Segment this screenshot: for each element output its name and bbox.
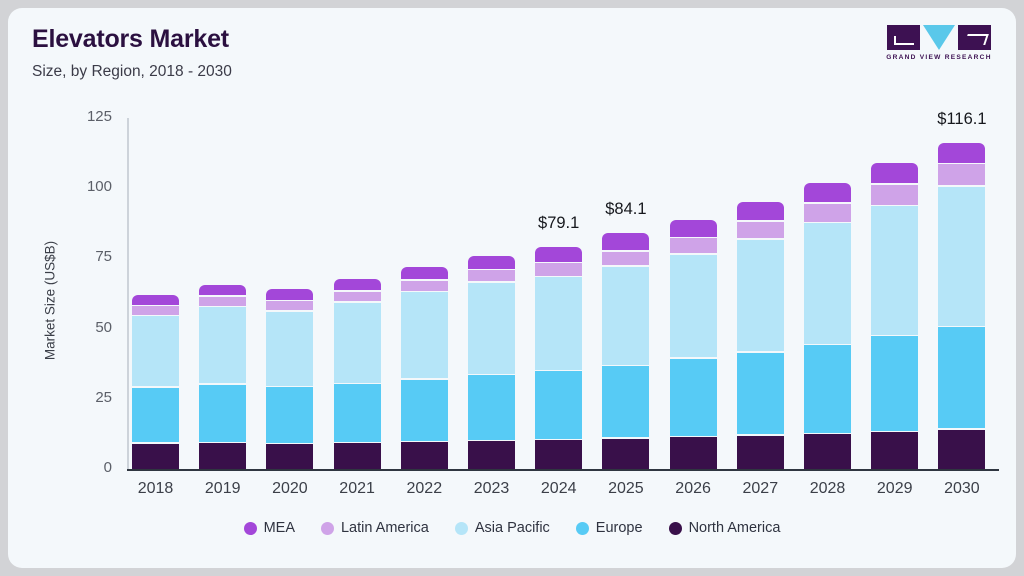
bar-segment-mea[interactable] [401, 267, 448, 279]
bar-segment-asia-pacific[interactable] [737, 240, 784, 351]
bar-segment-asia-pacific[interactable] [266, 312, 313, 386]
bar-segment-north-america[interactable] [871, 432, 918, 469]
bar-segment-europe[interactable] [670, 359, 717, 436]
bar-2021[interactable] [334, 279, 381, 469]
bar-segment-mea[interactable] [602, 233, 649, 250]
bar-2026[interactable] [670, 220, 717, 469]
bar-segment-latin-america[interactable] [737, 222, 784, 238]
legend-label: North America [689, 520, 781, 536]
y-axis-line [127, 118, 129, 470]
bar-segment-north-america[interactable] [401, 442, 448, 469]
bar-segment-europe[interactable] [401, 380, 448, 441]
bar-segment-mea[interactable] [938, 143, 985, 163]
bar-segment-latin-america[interactable] [132, 306, 179, 314]
y-axis-tick: 25 [66, 389, 112, 406]
legend-item-asia-pacific[interactable]: Asia Pacific [455, 520, 550, 536]
bar-segment-mea[interactable] [132, 295, 179, 305]
bar-segment-mea[interactable] [535, 247, 582, 262]
y-axis-tick: 0 [66, 459, 112, 476]
bar-2018[interactable] [132, 295, 179, 469]
bar-2028[interactable] [804, 183, 851, 469]
bar-segment-asia-pacific[interactable] [804, 223, 851, 344]
bar-segment-north-america[interactable] [199, 443, 246, 469]
value-label-2025: $84.1 [571, 200, 681, 219]
legend-item-north-america[interactable]: North America [669, 520, 781, 536]
bar-segment-asia-pacific[interactable] [871, 206, 918, 335]
legend-swatch-icon [669, 522, 682, 535]
value-label-2030: $116.1 [907, 110, 1016, 129]
bar-segment-asia-pacific[interactable] [199, 307, 246, 383]
legend-swatch-icon [455, 522, 468, 535]
y-axis-tick: 100 [66, 178, 112, 195]
bar-segment-latin-america[interactable] [401, 281, 448, 291]
bar-segment-latin-america[interactable] [670, 238, 717, 253]
bar-segment-latin-america[interactable] [199, 297, 246, 306]
bar-2020[interactable] [266, 289, 313, 469]
y-axis-label: Market Size (US$B) [43, 221, 58, 381]
bar-segment-latin-america[interactable] [804, 204, 851, 222]
chart-legend: MEALatin AmericaAsia PacificEuropeNorth … [8, 520, 1016, 536]
bar-segment-north-america[interactable] [535, 440, 582, 469]
bar-segment-asia-pacific[interactable] [670, 255, 717, 358]
y-axis-tick: 50 [66, 319, 112, 336]
bar-segment-europe[interactable] [468, 375, 515, 440]
bar-segment-europe[interactable] [602, 366, 649, 437]
legend-item-mea[interactable]: MEA [244, 520, 295, 536]
bar-2025[interactable] [602, 233, 649, 469]
bar-segment-mea[interactable] [266, 289, 313, 299]
bar-segment-europe[interactable] [535, 371, 582, 438]
bar-segment-europe[interactable] [334, 384, 381, 442]
bar-segment-mea[interactable] [468, 256, 515, 269]
legend-label: Europe [596, 520, 643, 536]
legend-swatch-icon [576, 522, 589, 535]
bar-segment-latin-america[interactable] [334, 292, 381, 301]
legend-swatch-icon [244, 522, 257, 535]
bar-segment-mea[interactable] [804, 183, 851, 202]
legend-swatch-icon [321, 522, 334, 535]
bar-2027[interactable] [737, 202, 784, 469]
bar-segment-mea[interactable] [737, 202, 784, 220]
legend-label: Asia Pacific [475, 520, 550, 536]
bar-segment-europe[interactable] [938, 327, 985, 428]
bar-segment-latin-america[interactable] [266, 301, 313, 310]
bar-segment-asia-pacific[interactable] [535, 277, 582, 370]
bar-2029[interactable] [871, 163, 918, 469]
bar-segment-europe[interactable] [804, 345, 851, 432]
bar-segment-latin-america[interactable] [535, 263, 582, 276]
x-axis-line [127, 469, 999, 471]
legend-label: MEA [264, 520, 295, 536]
bar-2023[interactable] [468, 256, 515, 469]
bar-segment-north-america[interactable] [670, 437, 717, 469]
bar-segment-asia-pacific[interactable] [132, 316, 179, 386]
legend-item-latin-america[interactable]: Latin America [321, 520, 429, 536]
bar-segment-north-america[interactable] [334, 443, 381, 469]
bar-2030[interactable] [938, 143, 985, 469]
bar-segment-mea[interactable] [871, 163, 918, 184]
bar-segment-europe[interactable] [737, 353, 784, 435]
bar-segment-mea[interactable] [670, 220, 717, 237]
bar-2022[interactable] [401, 267, 448, 469]
bar-segment-europe[interactable] [199, 385, 246, 442]
bar-segment-europe[interactable] [132, 388, 179, 443]
bar-segment-north-america[interactable] [266, 444, 313, 469]
legend-item-europe[interactable]: Europe [576, 520, 643, 536]
bar-segment-north-america[interactable] [132, 444, 179, 469]
bar-segment-asia-pacific[interactable] [334, 303, 381, 383]
bar-segment-europe[interactable] [266, 387, 313, 442]
bar-segment-north-america[interactable] [804, 434, 851, 469]
bar-segment-asia-pacific[interactable] [401, 292, 448, 378]
bar-segment-north-america[interactable] [602, 439, 649, 470]
bar-segment-asia-pacific[interactable] [602, 267, 649, 365]
stacked-bar-chart: Market Size (US$B) 0255075100125 2018201… [8, 8, 1016, 568]
bar-segment-asia-pacific[interactable] [938, 187, 985, 326]
legend-label: Latin America [341, 520, 429, 536]
y-axis-tick: 75 [66, 248, 112, 265]
bar-segment-mea[interactable] [334, 279, 381, 291]
bar-2019[interactable] [199, 285, 246, 469]
bar-2024[interactable] [535, 247, 582, 469]
bar-segment-asia-pacific[interactable] [468, 283, 515, 374]
bar-segment-north-america[interactable] [737, 436, 784, 469]
bar-segment-north-america[interactable] [938, 430, 985, 469]
bar-segment-mea[interactable] [199, 285, 246, 296]
bar-segment-latin-america[interactable] [602, 252, 649, 266]
bar-segment-europe[interactable] [871, 336, 918, 430]
x-axis-tick-2030: 2030 [917, 480, 1007, 498]
bar-segment-latin-america[interactable] [468, 270, 515, 281]
bar-segment-latin-america[interactable] [938, 164, 985, 185]
bar-segment-latin-america[interactable] [871, 185, 918, 205]
chart-card: Elevators Market Size, by Region, 2018 -… [8, 8, 1016, 568]
y-axis-tick: 125 [66, 108, 112, 125]
bar-segment-north-america[interactable] [468, 441, 515, 469]
